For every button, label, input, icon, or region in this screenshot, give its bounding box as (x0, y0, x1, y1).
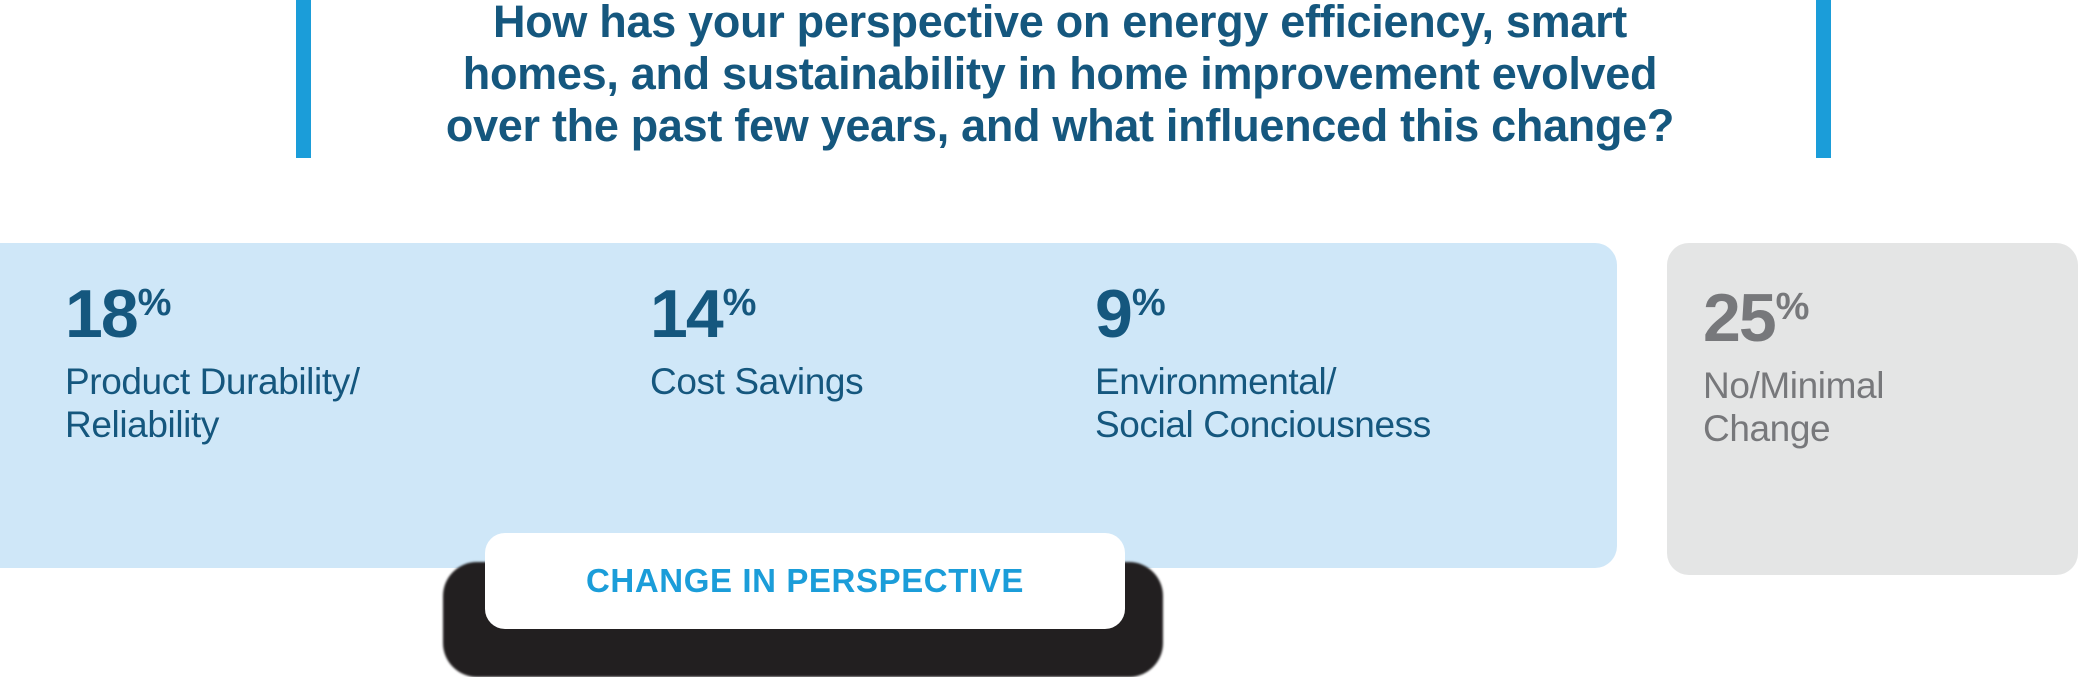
stat-label-product-durability: Product Durability/ Reliability (65, 360, 585, 447)
percent-symbol: % (138, 282, 172, 324)
stat-number: 25 (1703, 280, 1775, 356)
accent-bar-left (296, 0, 311, 158)
stat-card-no-minimal-change: 25% No/Minimal Change (1667, 243, 2078, 575)
stat-item-cost-savings: 14% Cost Savings (650, 282, 1050, 403)
stat-card-change-in-perspective: 18% Product Durability/ Reliability 14% … (0, 243, 1617, 568)
stat-value-product-durability: 18% (65, 282, 585, 347)
page-title-line-2: homes, and sustainability in home improv… (360, 48, 1760, 100)
page-title: How has your perspective on energy effic… (360, 0, 1760, 153)
stat-value-environmental-social: 9% (1095, 282, 1615, 347)
percent-symbol: % (1132, 282, 1166, 324)
headline-section: How has your perspective on energy effic… (0, 0, 2078, 170)
stat-item-product-durability: 18% Product Durability/ Reliability (65, 282, 585, 447)
callout-pill: CHANGE IN PERSPECTIVE (485, 533, 1125, 629)
callout-pill-container: CHANGE IN PERSPECTIVE (443, 540, 1183, 677)
stat-label-environmental-social: Environmental/ Social Conciousness (1095, 360, 1615, 447)
stat-label-cost-savings: Cost Savings (650, 360, 1050, 404)
stat-item-no-minimal-change: 25% No/Minimal Change (1703, 286, 2053, 451)
accent-bar-right (1816, 0, 1831, 158)
callout-pill-label: CHANGE IN PERSPECTIVE (586, 562, 1024, 600)
stats-row: 18% Product Durability/ Reliability 14% … (0, 243, 2078, 578)
stat-item-environmental-social: 9% Environmental/ Social Conciousness (1095, 282, 1615, 447)
percent-symbol: % (723, 282, 757, 324)
stat-number: 14 (650, 276, 722, 352)
stat-value-cost-savings: 14% (650, 282, 1050, 347)
stat-label-no-minimal-change: No/Minimal Change (1703, 364, 2053, 451)
page-title-line-1: How has your perspective on energy effic… (360, 0, 1760, 48)
page-title-line-3: over the past few years, and what influe… (360, 100, 1760, 152)
stat-value-no-minimal-change: 25% (1703, 286, 2053, 351)
percent-symbol: % (1776, 286, 1810, 328)
stat-number: 18 (65, 276, 137, 352)
stat-number: 9 (1095, 276, 1131, 352)
